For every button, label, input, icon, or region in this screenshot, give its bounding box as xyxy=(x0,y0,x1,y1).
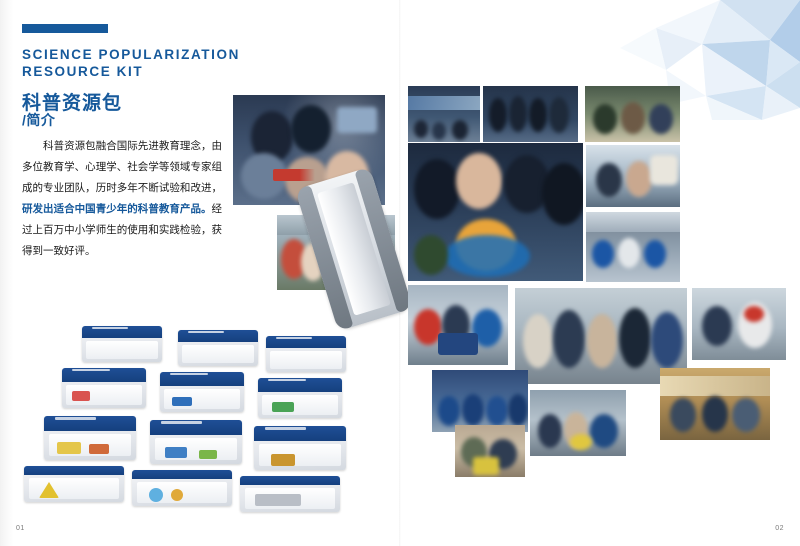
title-subtitle: /简介 xyxy=(22,110,55,130)
photo-desk-activity xyxy=(408,285,508,365)
accent-rule xyxy=(22,24,108,33)
title-english: SCIENCE POPULARIZATION RESOURCE KIT xyxy=(22,46,252,80)
title-english-line2: RESOURCE KIT xyxy=(22,63,252,80)
photo-hands-on-table xyxy=(455,425,525,477)
page-number-right: 02 xyxy=(775,525,784,532)
photo-kit-product-lineup xyxy=(18,320,388,505)
page-number-left: 01 xyxy=(16,525,25,532)
intro-paragraph: 科普资源包融合国际先进教育理念，由多位教育学、心理学、社会学等领域专家组成的专业… xyxy=(22,136,222,262)
photo-children-with-model xyxy=(585,86,680,142)
photo-award-stage xyxy=(483,86,578,142)
photo-kit-roll-case xyxy=(295,167,413,331)
photo-hall-audience xyxy=(432,370,528,432)
intro-part-1: 科普资源包融合国际先进教育理念，由多位教育学、心理学、社会学等领域专家组成的专业… xyxy=(22,140,222,194)
brochure-spread: SCIENCE POPULARIZATION RESOURCE KIT 科普资源… xyxy=(0,0,800,546)
photo-robot-demo xyxy=(692,288,786,360)
intro-part-2-highlight: 研发出适合中国青少年的科普教育产品。 xyxy=(22,203,212,215)
photo-market-display xyxy=(660,368,770,440)
photo-robot-line xyxy=(586,212,680,282)
photo-light-experiment xyxy=(586,145,680,207)
photo-science-fair xyxy=(530,390,626,456)
page-gutter-shading xyxy=(0,0,14,546)
title-english-line1: SCIENCE POPULARIZATION xyxy=(22,46,252,63)
photo-children-science-large xyxy=(408,143,583,281)
photo-classroom-wide xyxy=(408,86,480,142)
